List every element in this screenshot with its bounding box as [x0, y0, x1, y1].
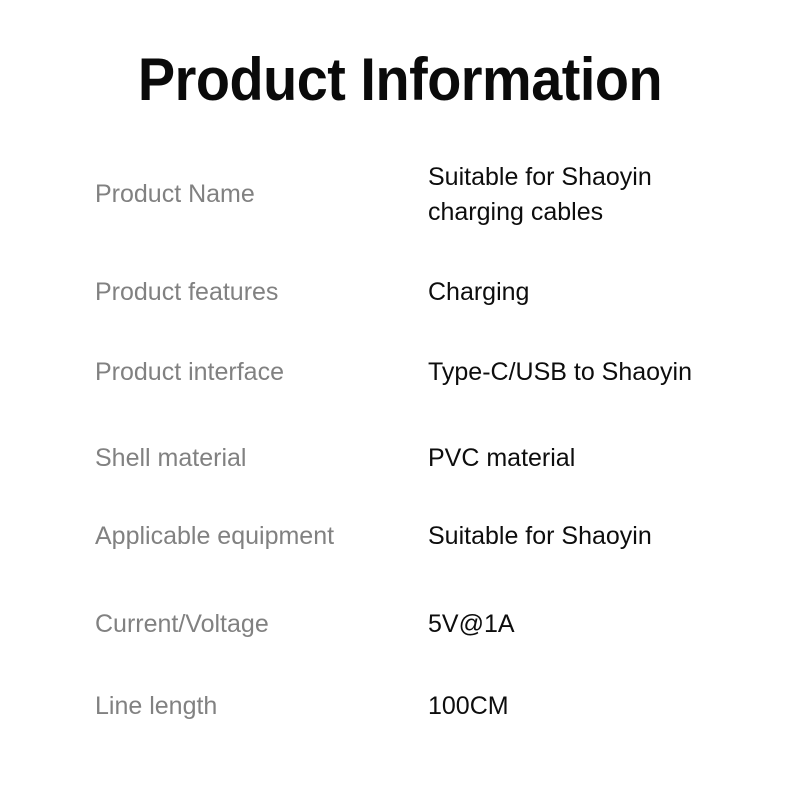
spec-label-product-interface: Product interface — [95, 355, 428, 390]
page-title: Product Information — [28, 44, 772, 116]
spec-value-line-length: 100CM — [428, 689, 760, 724]
spec-value-product-name: Suitable for Shaoyin charging cables — [428, 160, 760, 230]
specification-table: Product Name Suitable for Shaoyin chargi… — [0, 160, 800, 724]
product-information-page: Product Information Product Name Suitabl… — [0, 0, 800, 800]
table-row: Shell material PVC material — [0, 441, 800, 476]
table-row: Product Name Suitable for Shaoyin chargi… — [0, 160, 800, 230]
table-row: Product interface Type-C/USB to Shaoyin — [0, 355, 800, 390]
spec-label-product-name: Product Name — [95, 160, 428, 212]
table-row: Current/Voltage 5V@1A — [0, 607, 800, 642]
table-row: Line length 100CM — [0, 689, 800, 724]
table-row: Product features Charging — [0, 275, 800, 310]
spec-label-line-length: Line length — [95, 689, 428, 724]
table-row: Applicable equipment Suitable for Shaoyi… — [0, 519, 800, 554]
spec-value-product-features: Charging — [428, 275, 760, 310]
spec-label-current-voltage: Current/Voltage — [95, 607, 428, 642]
spec-value-shell-material: PVC material — [428, 441, 760, 476]
spec-value-applicable-equipment: Suitable for Shaoyin — [428, 519, 760, 554]
spec-label-product-features: Product features — [95, 275, 428, 310]
spec-value-product-interface: Type-C/USB to Shaoyin — [428, 355, 760, 390]
spec-value-current-voltage: 5V@1A — [428, 607, 760, 642]
spec-label-shell-material: Shell material — [95, 441, 428, 476]
spec-label-applicable-equipment: Applicable equipment — [95, 519, 428, 554]
